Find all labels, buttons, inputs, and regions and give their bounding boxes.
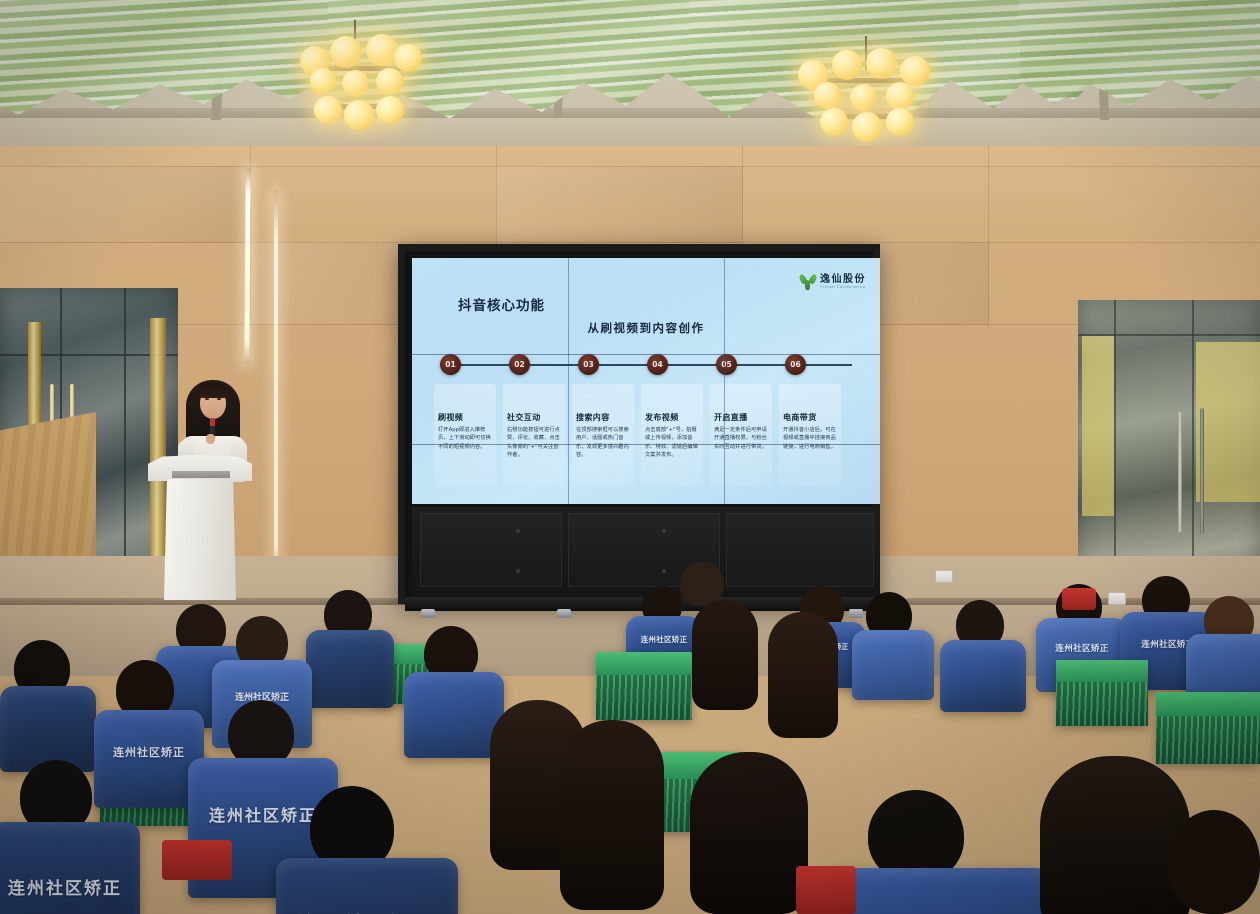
- timeline-node-3: 03: [578, 354, 599, 375]
- step-body: 满足一定条件后可申请开通直播权限，与粉丝实时互动并进行带货。: [714, 426, 769, 451]
- wall-strip-light: [274, 190, 278, 590]
- video-wall-cabinet: [412, 507, 880, 597]
- chair: [1062, 588, 1096, 610]
- step-card-3: 搜索内容 在顶部搜索框可以搜索用户、话题或热门音乐，发现更多感兴趣内容。: [572, 384, 634, 486]
- timeline-node-5: 05: [716, 354, 737, 375]
- podium: [148, 455, 252, 600]
- panel-seam: [412, 354, 880, 355]
- chair: [162, 840, 232, 880]
- logo-name-cn: 逸仙股份: [820, 275, 866, 285]
- step-body: 打开App即进入推荐页，上下滑动即可切换不同的短视频内容。: [438, 426, 493, 451]
- chandelier-left: [286, 20, 422, 138]
- led-video-wall: 抖音核心功能 从刷视频到内容创作 逸仙股份 YiXian Corporation…: [398, 244, 880, 604]
- chandelier-right: [790, 36, 940, 148]
- step-heading: 开启直播: [714, 412, 748, 423]
- glass-wall-right: [1078, 300, 1260, 600]
- panel-seam: [568, 258, 569, 504]
- vest-text: 连州社区矫正: [0, 874, 140, 899]
- step-body: 在顶部搜索框可以搜索用户、话题或热门音乐，发现更多感兴趣内容。: [576, 426, 631, 460]
- slide-subtitle: 从刷视频到内容创作: [412, 320, 880, 336]
- table: [1056, 660, 1148, 726]
- vest-text: 连州社区矫正: [276, 908, 458, 914]
- step-card-2: 社交互动 右侧功能按钮可进行点赞、评论、收藏，点击头像旁的"+"可关注创作者。: [503, 384, 565, 486]
- step-card-6: 电商带货 开通抖音小店后，可在视频或直播中挂接商品链接，进行电商销售。: [779, 384, 841, 486]
- vest-text: 连州社区矫正: [94, 744, 204, 760]
- step-body: 开通抖音小店后，可在视频或直播中挂接商品链接，进行电商销售。: [783, 426, 838, 451]
- step-heading: 电商带货: [783, 412, 817, 423]
- step-card-1: 刷视频 打开App即进入推荐页，上下滑动即可切换不同的短视频内容。: [434, 384, 496, 486]
- step-body: 点击底部"+"号，拍摄或上传视频，添加音乐、特效、滤镜后编辑文案并发布。: [645, 426, 700, 460]
- step-card-5: 开启直播 满足一定条件后可申请开通直播权限，与粉丝实时互动并进行带货。: [710, 384, 772, 486]
- wall-socket: [935, 570, 953, 583]
- timeline-node-2: 02: [509, 354, 530, 375]
- table: [1156, 692, 1260, 764]
- presentation-slide: 抖音核心功能 从刷视频到内容创作 逸仙股份 YiXian Corporation…: [412, 258, 880, 504]
- step-body: 右侧功能按钮可进行点赞、评论、收藏，点击头像旁的"+"可关注创作者。: [507, 426, 562, 460]
- panel-seam: [412, 444, 880, 445]
- step-card-4: 发布视频 点击底部"+"号，拍摄或上传视频，添加音乐、特效、滤镜后编辑文案并发布…: [641, 384, 703, 486]
- vest-text: 连州社区矫正: [1036, 642, 1128, 654]
- table: [596, 652, 692, 720]
- timeline-node-4: 04: [647, 354, 668, 375]
- leaf-logo-icon: [800, 274, 816, 290]
- step-heading: 搜索内容: [576, 412, 610, 423]
- step-cards: 刷视频 打开App即进入推荐页，上下滑动即可切换不同的短视频内容。 社交互动 右…: [412, 384, 880, 494]
- wall-socket: [1108, 592, 1126, 605]
- panel-seam: [724, 258, 725, 504]
- step-heading: 社交互动: [507, 412, 541, 423]
- vest-text: 连州社区矫正: [626, 634, 702, 645]
- timeline-node-1: 01: [440, 354, 461, 375]
- photo-scene: 抖音核心功能 从刷视频到内容创作 逸仙股份 YiXian Corporation…: [0, 0, 1260, 914]
- chair: [796, 866, 856, 914]
- company-logo: 逸仙股份 YiXian Corporation: [800, 274, 866, 290]
- slide-title: 抖音核心功能: [458, 294, 545, 314]
- step-heading: 刷视频: [438, 412, 463, 423]
- step-heading: 发布视频: [645, 412, 679, 423]
- logo-name-en: YiXian Corporation: [820, 286, 866, 290]
- timeline-node-6: 06: [785, 354, 806, 375]
